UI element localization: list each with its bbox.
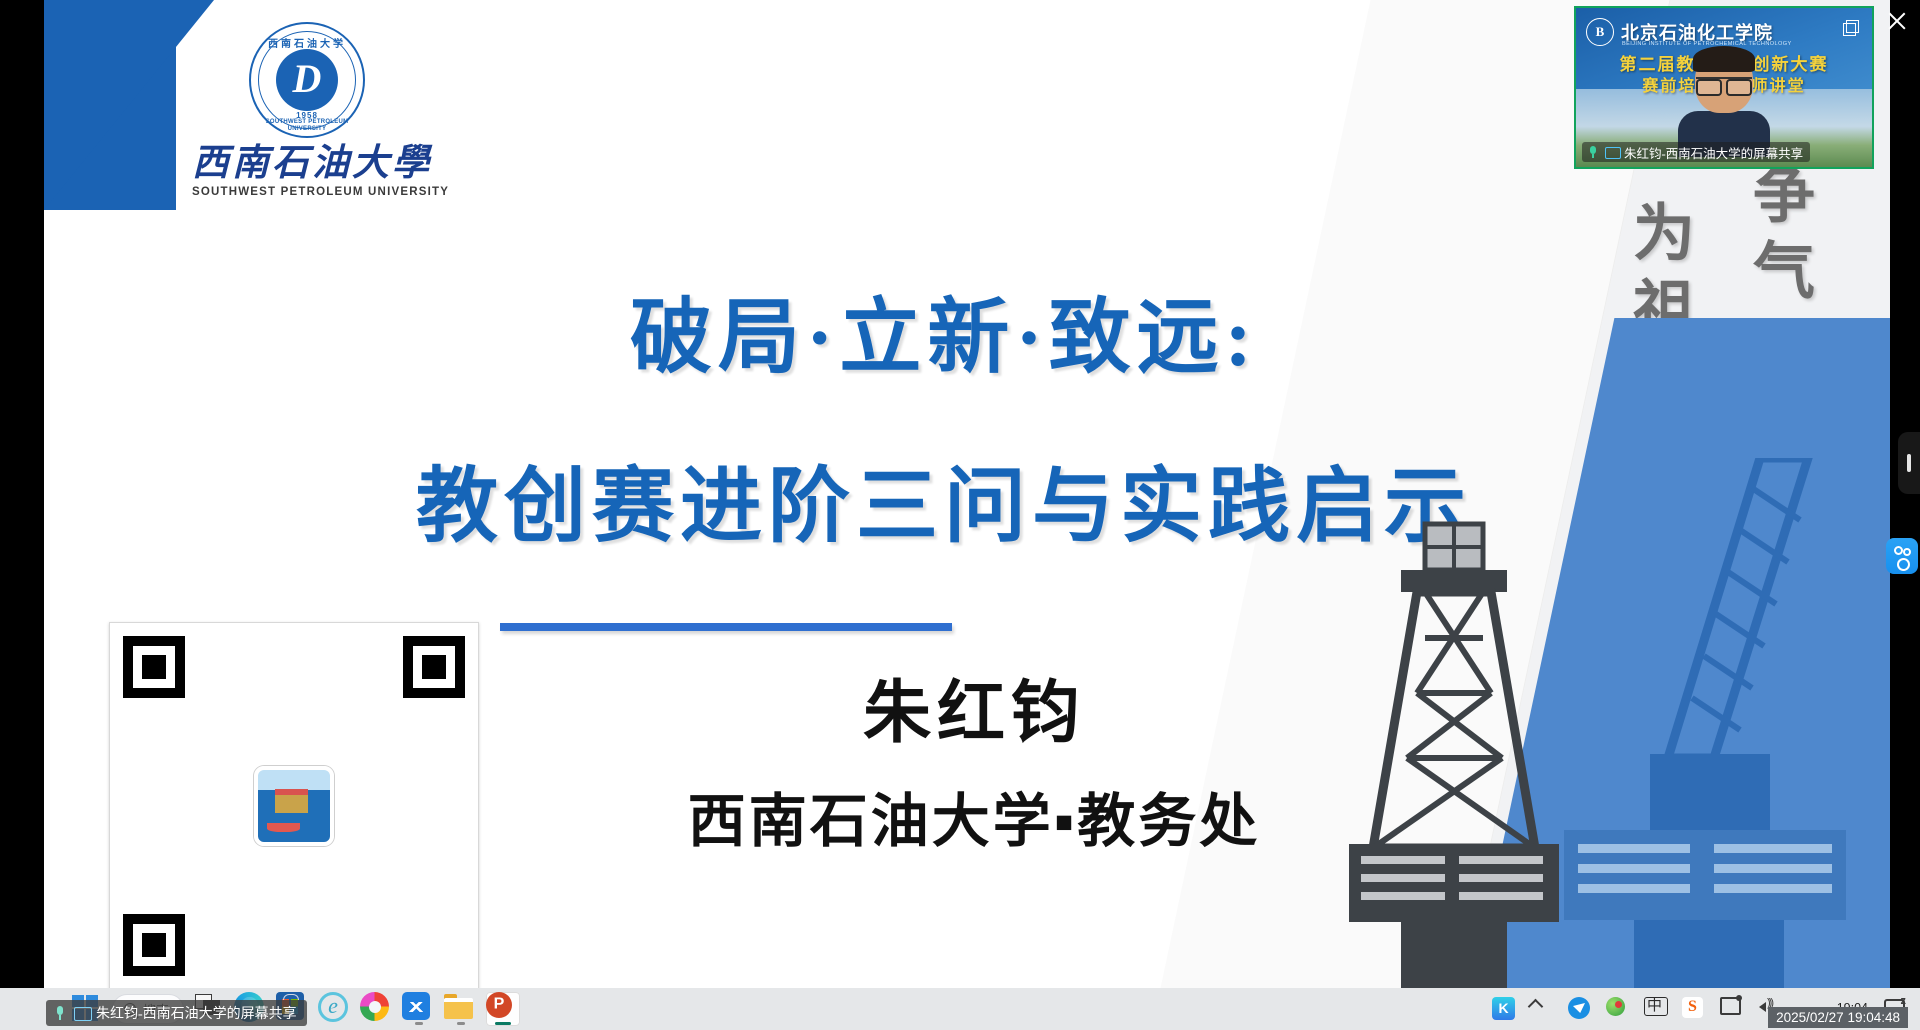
tray-item-quark[interactable] (1568, 997, 1592, 1021)
slide-title-block: 破局·立新·致远: 教创赛进阶三问与实践启示 (374, 290, 1514, 556)
active-window-indicator (495, 1022, 511, 1025)
restore-window-icon[interactable] (1843, 20, 1858, 35)
video-pip-window[interactable]: B 北京石油化工学院 BEIJING INSTITUTE OF PETROCHE… (1574, 6, 1874, 169)
tray-show-hidden-icons[interactable] (1530, 997, 1554, 1021)
running-indicator (457, 1022, 465, 1025)
slide-title-line-1: 破局·立新·致远: (374, 290, 1514, 387)
close-icon[interactable] (1882, 6, 1912, 36)
screen-share-icon[interactable] (74, 1005, 90, 1021)
letterbox-right (1890, 0, 1920, 988)
university-name-en: SOUTHWEST PETROLEUM UNIVERSITY (192, 186, 422, 198)
taskbar-item-welink[interactable] (402, 992, 436, 1026)
internet-explorer-icon (318, 992, 348, 1022)
seal-arc-top-text: 西南石油大学 (251, 35, 363, 50)
presenter-organization: 西南石油大学▪教务处 (474, 787, 1474, 857)
meeting-app-icon (1894, 546, 1903, 555)
sidebar-drag-handle[interactable] (1898, 432, 1920, 494)
sogou-icon: S (1682, 997, 1703, 1018)
oil-platform-boat (267, 823, 300, 832)
university-logo: 西南石油大学 D 1958 SOUTHWEST PETROLEUM UNIVER… (192, 22, 422, 198)
clock-time: 19:04 (1796, 1001, 1868, 1017)
tray-item-display[interactable] (1720, 997, 1744, 1021)
taskbar-item-internet-explorer[interactable] (318, 992, 352, 1026)
oil-derrick-dark-icon (1339, 518, 1569, 988)
letterbox-left (0, 0, 44, 988)
seal-arc-bottom-text: SOUTHWEST PETROLEUM UNIVERSITY (255, 118, 358, 132)
welink-icon (402, 992, 430, 1020)
pip-school-name-en: BEIJING INSTITUTE OF PETROCHEMICAL TECHN… (1622, 41, 1792, 47)
qr-code (109, 622, 479, 988)
running-indicator (415, 1022, 423, 1025)
notifications-bell-icon (1882, 997, 1906, 1017)
notification-center-button[interactable] (1882, 997, 1906, 1021)
university-name-cn: 西南石油大學 (192, 144, 422, 184)
pip-presenter-video (1678, 49, 1770, 157)
pip-caption-bar: 朱红钧-西南石油大学的屏幕共享 (1582, 142, 1810, 162)
chrome-icon (360, 992, 389, 1021)
microphone-icon (1586, 145, 1600, 159)
seal-monogram: D (276, 49, 338, 111)
microphone-icon[interactable] (52, 1005, 68, 1021)
pip-caption-text: 朱红钧-西南石油大学的屏幕共享 (1624, 143, 1803, 162)
tray-item-network-ball[interactable] (1606, 997, 1630, 1021)
pip-presenter-hair (1693, 46, 1755, 72)
monitor-icon (1720, 997, 1741, 1015)
chevron-up-icon (1528, 999, 1544, 1015)
pip-presenter-glasses (1696, 77, 1752, 91)
kingsoft-icon: K (1492, 997, 1515, 1020)
tray-item-sogou[interactable]: S (1682, 997, 1706, 1021)
screen-share-icon (1605, 145, 1619, 159)
screen-share-floating-bar[interactable]: 朱红钧-西南石油大学的屏幕共享 (46, 1000, 307, 1026)
taskbar-item-powerpoint[interactable] (486, 992, 520, 1026)
taskbar-clock[interactable]: 19:04 (1796, 1001, 1868, 1017)
screen-root: 西南石油大学 D 1958 SOUTHWEST PETROLEUM UNIVER… (0, 0, 1920, 1030)
quark-browser-icon (1568, 997, 1590, 1019)
qr-center-logo-oil-platform (254, 766, 334, 846)
tray-item-ime[interactable]: 中 (1644, 997, 1668, 1021)
screen-share-label: 朱红钧-西南石油大学的屏幕共享 (96, 1003, 297, 1023)
qr-finder-top-left (123, 636, 185, 698)
university-seal-icon: 西南石油大学 D 1958 SOUTHWEST PETROLEUM UNIVER… (249, 22, 365, 138)
qr-finder-bottom-left (123, 914, 185, 976)
oil-platform-rig (275, 789, 308, 813)
pip-school-seal-icon: B (1586, 18, 1614, 46)
taskbar-item-file-explorer[interactable] (444, 992, 478, 1026)
oil-derrick-blue-icon (1564, 458, 1854, 988)
tray-item-kingsoft[interactable]: K (1492, 997, 1516, 1021)
qr-finder-top-right (403, 636, 465, 698)
network-globe-icon (1606, 997, 1625, 1016)
ime-chinese-icon: 中 (1644, 997, 1668, 1016)
powerpoint-icon (486, 992, 512, 1018)
qr-code-pattern (119, 632, 469, 980)
system-tray: K 中 S 19:04 (1492, 988, 1920, 1030)
meeting-app-floating-button[interactable] (1886, 538, 1918, 574)
presenter-name: 朱红钧 (474, 672, 1474, 755)
presenter-block: 朱红钧 西南石油大学▪教务处 (474, 672, 1474, 857)
title-divider-rule (500, 623, 952, 631)
volume-icon (1758, 997, 1780, 1015)
folder-icon (444, 992, 474, 1016)
meeting-app-icon-dot (1903, 548, 1911, 556)
tray-item-volume[interactable] (1758, 997, 1782, 1021)
taskbar-item-chrome-browser[interactable] (360, 992, 394, 1026)
